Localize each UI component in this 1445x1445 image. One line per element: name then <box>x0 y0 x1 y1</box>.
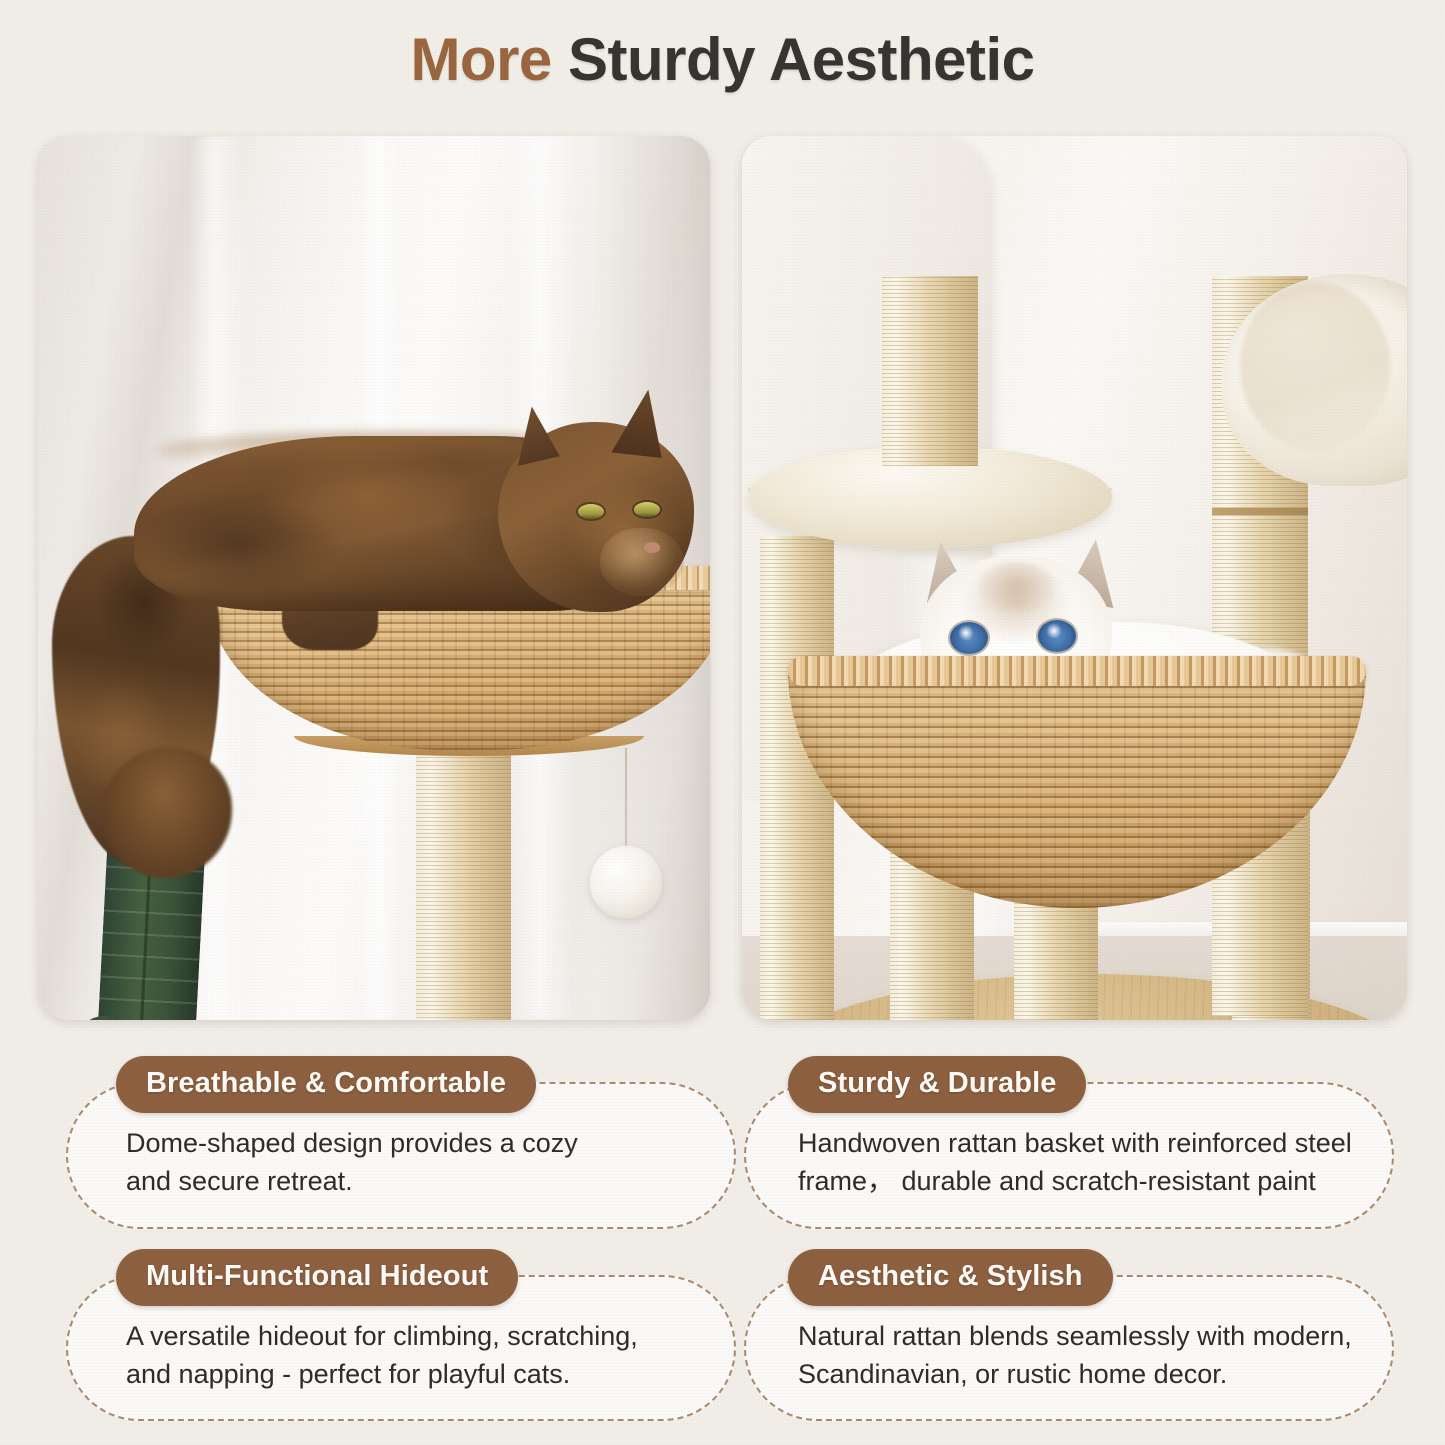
cat-eye-right <box>634 502 660 517</box>
dome-hideout-interior <box>1240 282 1390 450</box>
sisal-post-joint <box>1212 508 1308 515</box>
cat-muzzle <box>600 528 684 596</box>
feature-list: Breathable & Comfortable Dome-shaped des… <box>66 1052 1386 1421</box>
photo-ragdoll-kitten-in-rattan-basket <box>742 136 1407 1020</box>
pompom-toy-icon <box>590 846 662 918</box>
rattan-basket-rim <box>788 656 1366 686</box>
feature-card-aesthetic-stylish: Aesthetic & Stylish Natural rattan blend… <box>744 1245 1394 1422</box>
cat-eye-left <box>578 504 604 519</box>
feature-badge: Multi-Functional Hideout <box>116 1249 518 1306</box>
feature-description: Handwoven rattan basket with reinforced … <box>798 1124 1358 1201</box>
feature-badge: Aesthetic & Stylish <box>788 1249 1113 1306</box>
feature-description: Natural rattan blends seamlessly with mo… <box>798 1317 1358 1394</box>
feature-card-breathable-comfortable: Breathable & Comfortable Dome-shaped des… <box>66 1052 736 1229</box>
sisal-scratching-post <box>416 726 511 1020</box>
photo-gallery <box>38 136 1407 1020</box>
header: More Sturdy Aesthetic <box>0 0 1445 118</box>
sisal-post-upper <box>882 276 978 466</box>
feature-description: Dome-shaped design provides a cozy and s… <box>126 1124 688 1201</box>
feature-card-sturdy-durable: Sturdy & Durable Handwoven rattan basket… <box>744 1052 1394 1229</box>
photo-tortoiseshell-cat-on-rattan-basket <box>38 136 710 1020</box>
kitten-eye-left <box>950 622 988 654</box>
cat-nose <box>644 542 660 553</box>
kitten-eye-right <box>1038 620 1076 652</box>
page-title-accent: More <box>410 26 551 93</box>
feature-badge: Breathable & Comfortable <box>116 1056 536 1113</box>
toy-string <box>625 748 627 858</box>
feature-card-multi-functional-hideout: Multi-Functional Hideout A versatile hid… <box>66 1245 736 1422</box>
page-title-rest: Sturdy Aesthetic <box>552 26 1035 93</box>
feature-badge: Sturdy & Durable <box>788 1056 1086 1113</box>
kitten-forehead-marking <box>978 562 1056 614</box>
page-title: More Sturdy Aesthetic <box>410 25 1034 94</box>
feature-description: A versatile hideout for climbing, scratc… <box>126 1317 688 1394</box>
